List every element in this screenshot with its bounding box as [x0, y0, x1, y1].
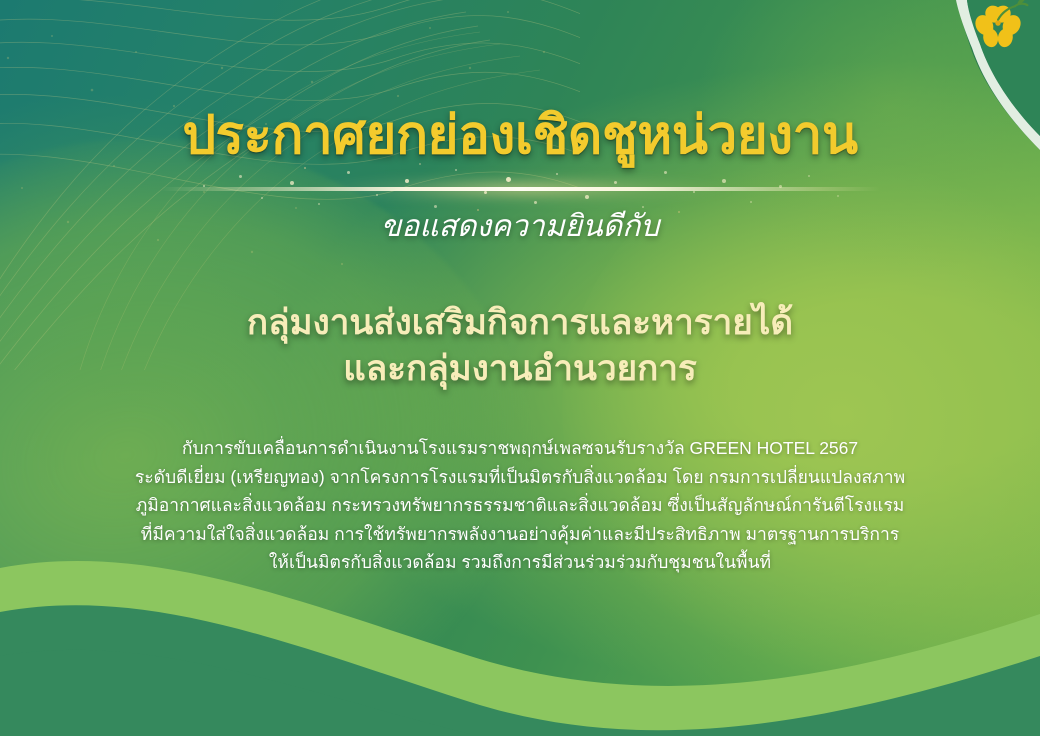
citation-line-3: ภูมิอากาศและสิ่งแวดล้อม กระทรวงทรัพยากรธ… [0, 491, 1040, 520]
citation-line-4: ที่มีความใส่ใจสิ่งแวดล้อม การใช้ทรัพยากร… [0, 520, 1040, 549]
citation-line-2: ระดับดีเยี่ยม (เหรียญทอง) จากโครงการโรงแ… [0, 463, 1040, 492]
award-announcement-poster: ประกาศยกย่องเชิดชูหน่วยงาน ขอแสดงความยิน… [0, 0, 1040, 736]
citation-line-5: ให้เป็นมิตรกับสิ่งแวดล้อม รวมถึงการมีส่ว… [0, 548, 1040, 577]
recipient-line-1: กลุ่มงานส่งเสริมกิจการและหารายได้ [0, 300, 1040, 346]
page-title: ประกาศยกย่องเชิดชูหน่วยงาน [0, 108, 1040, 164]
recipient-names: กลุ่มงานส่งเสริมกิจการและหารายได้ และกลุ… [0, 300, 1040, 392]
recipient-line-2: และกลุ่มงานอำนวยการ [0, 346, 1040, 392]
poster-content: ประกาศยกย่องเชิดชูหน่วยงาน ขอแสดงความยิน… [0, 0, 1040, 736]
congratulations-text: ขอแสดงความยินดีกับ [0, 203, 1040, 250]
citation-line-1: กับการขับเคลื่อนการดำเนินงานโรงแรมราชพฤก… [0, 434, 1040, 463]
citation-paragraph: กับการขับเคลื่อนการดำเนินงานโรงแรมราชพฤก… [0, 434, 1040, 577]
